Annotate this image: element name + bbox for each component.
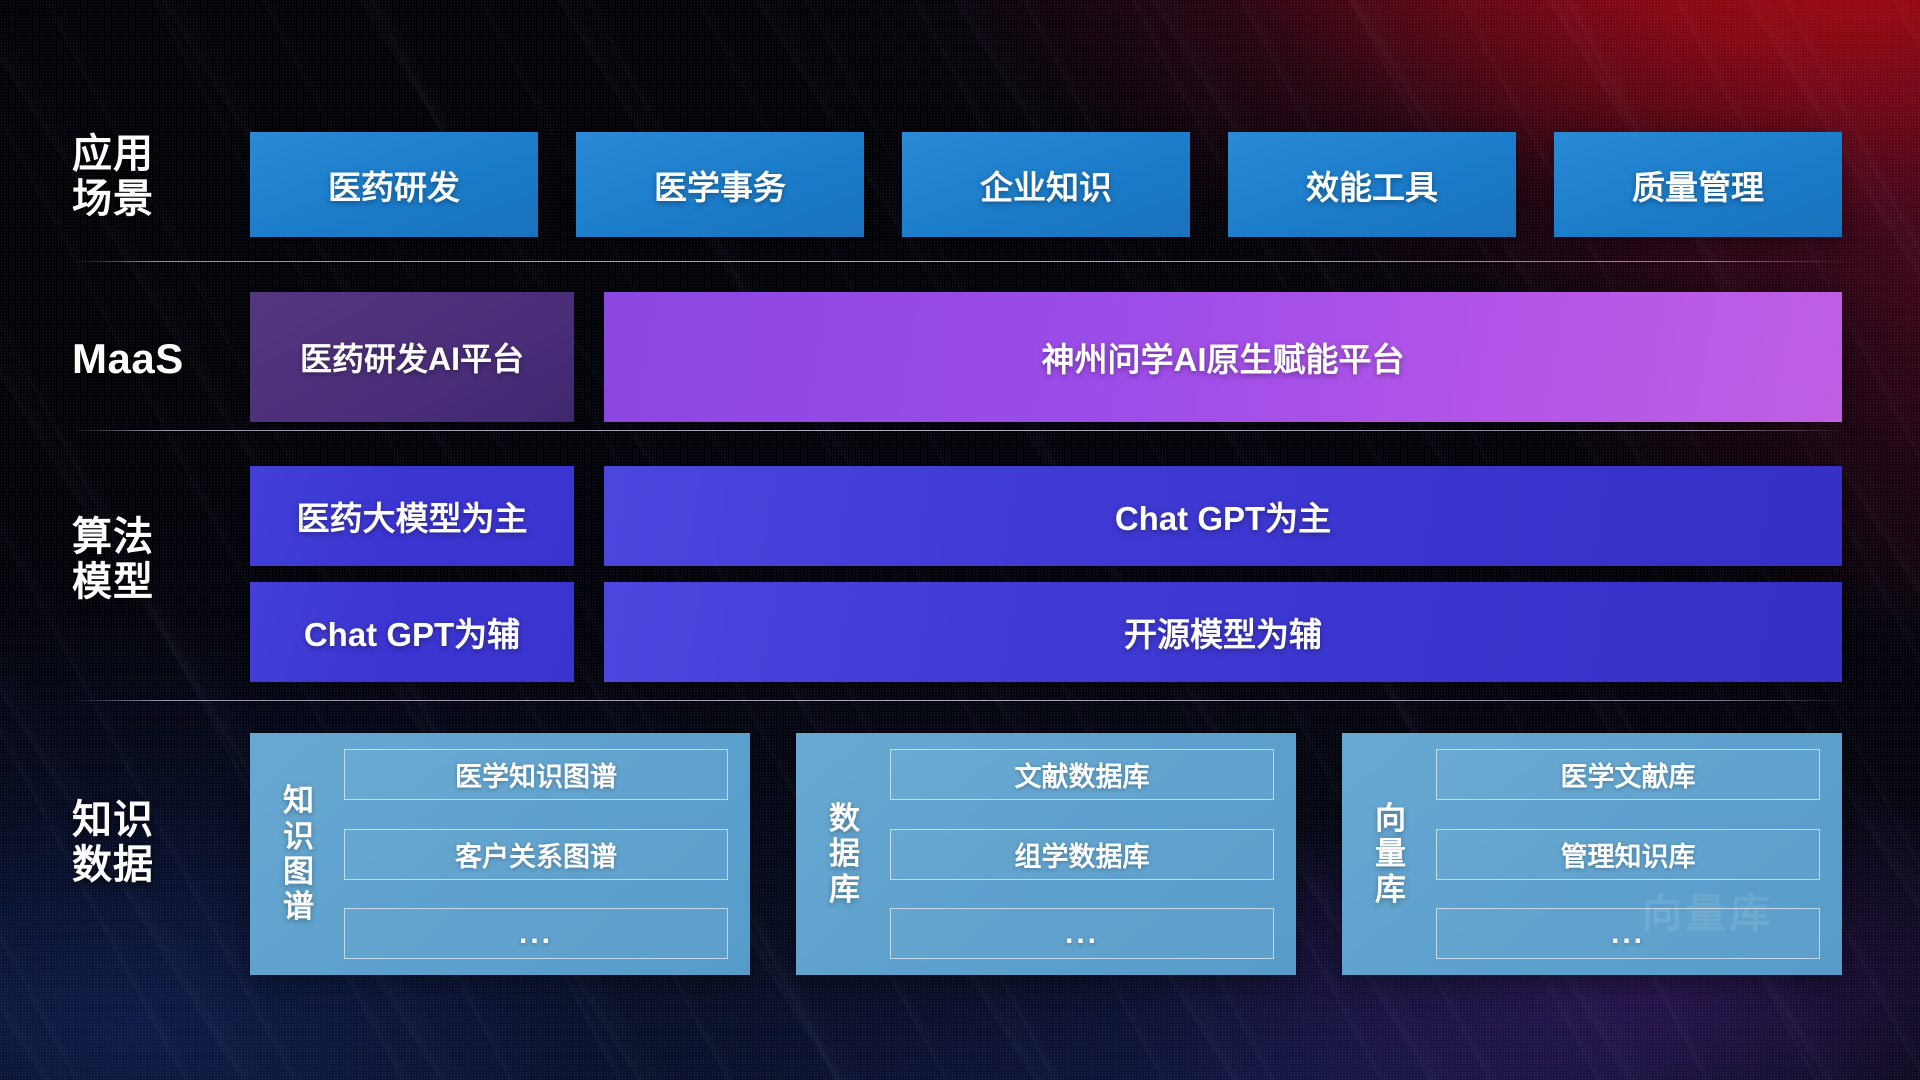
scenario-box-2-label: 医学事务	[654, 161, 786, 209]
row-label-knowledge-line2: 数据	[72, 843, 232, 888]
row-label-knowledge-line1: 知识	[72, 798, 232, 843]
knowledge-item-database-3[interactable]: ...	[890, 908, 1274, 959]
row-label-maas-text: MaaS	[72, 335, 232, 382]
knowledge-card-graph[interactable]: 知 识 图 谱 医学知识图谱 客户关系图谱 ...	[250, 733, 750, 975]
knowledge-item-graph-1[interactable]: 医学知识图谱	[344, 749, 728, 800]
divider-algorithm-knowledge	[72, 700, 1850, 701]
algo-box-chatgpt-primary[interactable]: Chat GPT为主	[604, 466, 1842, 566]
maas-platform-shenzhou-label: 神州问学AI原生赋能平台	[1042, 333, 1405, 381]
knowledge-card-database-items: 文献数据库 组学数据库 ...	[890, 749, 1274, 959]
scenario-box-1-label: 医药研发	[328, 161, 460, 209]
knowledge-item-vector-3[interactable]: ...	[1436, 908, 1820, 959]
scenario-box-2[interactable]: 医学事务	[576, 132, 864, 237]
algo-box-pharma-primary[interactable]: 医药大模型为主	[250, 466, 574, 566]
maas-platform-shenzhou[interactable]: 神州问学AI原生赋能平台	[604, 292, 1842, 422]
knowledge-card-vector-label-char-1: 向	[1375, 801, 1407, 836]
knowledge-card-graph-label: 知 识 图 谱	[268, 783, 330, 924]
knowledge-card-graph-label-char-3: 图	[283, 854, 315, 889]
knowledge-card-vector-label-char-3: 库	[1375, 872, 1407, 907]
knowledge-item-graph-2[interactable]: 客户关系图谱	[344, 829, 728, 880]
row-label-algorithm-line2: 模型	[72, 560, 232, 605]
slide-canvas: 应用 场景 医药研发 医学事务 企业知识 效能工具 质量管理 MaaS 医药研发…	[0, 0, 1920, 1080]
knowledge-card-database[interactable]: 数 据 库 文献数据库 组学数据库 ...	[796, 733, 1296, 975]
knowledge-card-database-label: 数 据 库	[814, 801, 876, 907]
row-label-scenarios: 应用 场景	[72, 132, 232, 222]
knowledge-card-database-label-char-3: 库	[829, 872, 861, 907]
algo-box-pharma-primary-label: 医药大模型为主	[297, 492, 528, 540]
architecture-diagram: 应用 场景 医药研发 医学事务 企业知识 效能工具 质量管理 MaaS 医药研发…	[0, 0, 1920, 1080]
row-label-scenarios-line1: 应用	[72, 132, 232, 177]
knowledge-item-database-1[interactable]: 文献数据库	[890, 749, 1274, 800]
knowledge-item-vector-1[interactable]: 医学文献库	[1436, 749, 1820, 800]
knowledge-card-vector-label-char-2: 量	[1375, 836, 1407, 871]
knowledge-item-database-2[interactable]: 组学数据库	[890, 829, 1274, 880]
knowledge-card-vector-items: 医学文献库 管理知识库 ...	[1436, 749, 1820, 959]
divider-scenarios-maas	[72, 261, 1850, 262]
knowledge-card-graph-items: 医学知识图谱 客户关系图谱 ...	[344, 749, 728, 959]
row-label-algorithm: 算法 模型	[72, 515, 232, 605]
algo-box-opensource-secondary-label: 开源模型为辅	[1124, 608, 1322, 656]
knowledge-item-graph-3[interactable]: ...	[344, 908, 728, 959]
scenario-box-3-label: 企业知识	[980, 161, 1112, 209]
maas-platform-pharma-label: 医药研发AI平台	[300, 334, 524, 380]
scenario-box-5-label: 质量管理	[1632, 161, 1764, 209]
scenario-box-4[interactable]: 效能工具	[1228, 132, 1516, 237]
row-label-scenarios-line2: 场景	[72, 177, 232, 222]
algo-box-chatgpt-secondary-label: Chat GPT为辅	[304, 608, 520, 656]
knowledge-card-graph-label-char-2: 识	[283, 819, 315, 854]
row-label-algorithm-line1: 算法	[72, 515, 232, 560]
knowledge-card-database-label-char-1: 数	[829, 801, 861, 836]
algo-box-chatgpt-secondary[interactable]: Chat GPT为辅	[250, 582, 574, 682]
maas-platform-pharma[interactable]: 医药研发AI平台	[250, 292, 574, 422]
knowledge-card-vector[interactable]: 向量库 向 量 库 医学文献库 管理知识库 ...	[1342, 733, 1842, 975]
divider-maas-algorithm	[72, 430, 1850, 431]
scenario-box-3[interactable]: 企业知识	[902, 132, 1190, 237]
algo-box-chatgpt-primary-label: Chat GPT为主	[1115, 492, 1331, 540]
algo-box-opensource-secondary[interactable]: 开源模型为辅	[604, 582, 1842, 682]
scenario-box-4-label: 效能工具	[1306, 161, 1438, 209]
knowledge-item-vector-2[interactable]: 管理知识库	[1436, 829, 1820, 880]
knowledge-card-graph-label-char-4: 谱	[283, 889, 315, 924]
scenario-box-1[interactable]: 医药研发	[250, 132, 538, 237]
knowledge-card-database-label-char-2: 据	[829, 836, 861, 871]
row-label-knowledge: 知识 数据	[72, 798, 232, 888]
scenario-box-5[interactable]: 质量管理	[1554, 132, 1842, 237]
knowledge-card-vector-label: 向 量 库	[1360, 801, 1422, 907]
knowledge-card-graph-label-char-1: 知	[283, 783, 315, 818]
row-label-maas: MaaS	[72, 335, 232, 382]
